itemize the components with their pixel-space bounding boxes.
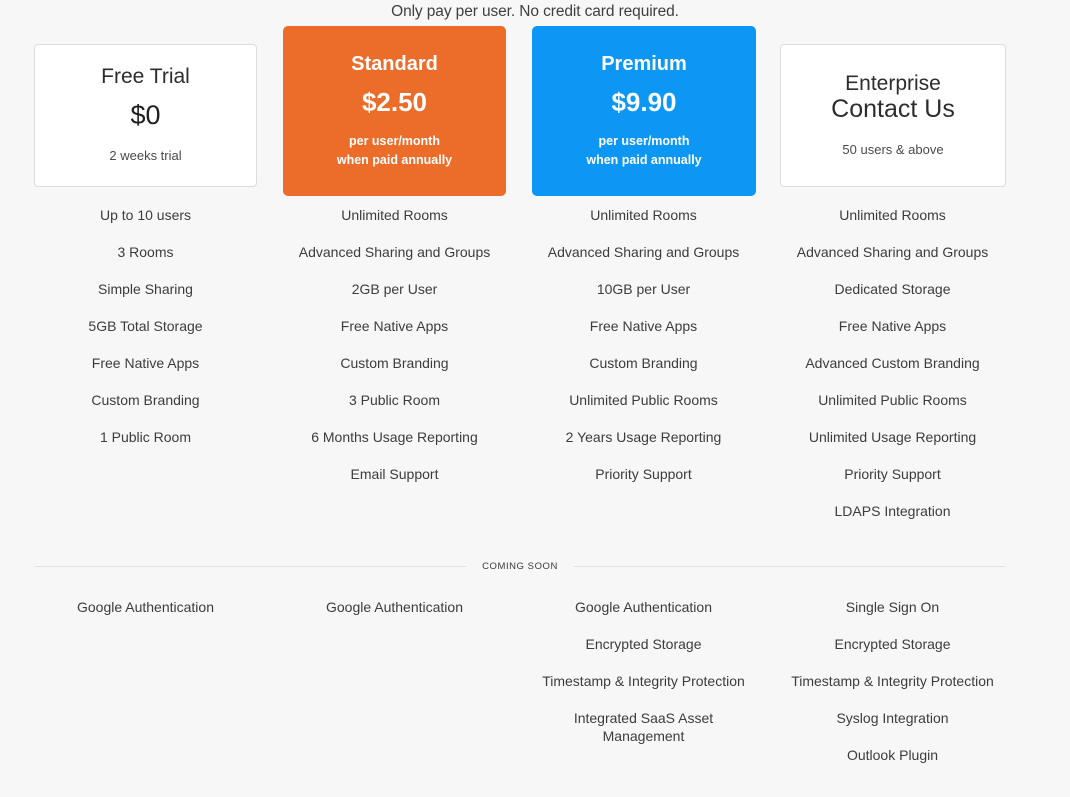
feature-item: Timestamp & Integrity Protection: [528, 672, 759, 690]
feature-item: Encrypted Storage: [572, 635, 716, 653]
feature-item: Free Native Apps: [825, 317, 960, 335]
feature-item: Free Native Apps: [576, 317, 711, 335]
divider-rule-right: [574, 566, 1005, 567]
plan-note: per user/month when paid annually: [337, 132, 452, 168]
feature-item: Outlook Plugin: [833, 746, 952, 764]
plan-name: Standard: [351, 53, 438, 75]
plan-note-line-2: when paid annually: [337, 151, 452, 169]
feature-item: Advanced Sharing and Groups: [534, 243, 753, 261]
feature-item: Unlimited Public Rooms: [555, 391, 732, 409]
feature-item: 2 Years Usage Reporting: [552, 428, 736, 446]
feature-column-free-trial: Up to 10 users3 RoomsSimple Sharing5GB T…: [21, 206, 270, 539]
feature-item: 5GB Total Storage: [74, 317, 216, 335]
feature-column-enterprise: Unlimited RoomsAdvanced Sharing and Grou…: [768, 206, 1017, 539]
coming-soon-divider: COMING SOON: [35, 561, 1005, 572]
plan-note: 50 users & above: [842, 141, 943, 160]
feature-column-standard: Unlimited RoomsAdvanced Sharing and Grou…: [270, 206, 519, 539]
plan-note-line-1: per user/month: [337, 132, 452, 150]
feature-item: 2GB per User: [338, 280, 452, 298]
plan-card-enterprise[interactable]: Enterprise Contact Us 50 users & above: [780, 44, 1006, 187]
feature-item: Advanced Custom Branding: [791, 354, 993, 372]
feature-item: Priority Support: [830, 465, 954, 483]
feature-item: Unlimited Public Rooms: [804, 391, 981, 409]
coming-soon-column-premium: Google AuthenticationEncrypted StorageTi…: [519, 598, 768, 783]
plan-card-standard[interactable]: Standard $2.50 per user/month when paid …: [283, 26, 506, 196]
feature-item: Unlimited Usage Reporting: [795, 428, 990, 446]
feature-item: Free Native Apps: [327, 317, 462, 335]
feature-item: Email Support: [337, 465, 453, 483]
plan-contact-us-label: Contact Us: [831, 95, 955, 123]
feature-item: Unlimited Rooms: [327, 206, 462, 224]
pricing-page: Only pay per user. No credit card requir…: [0, 0, 1070, 797]
feature-item: Timestamp & Integrity Protection: [777, 672, 1008, 690]
plan-card-free-trial[interactable]: Free Trial $0 2 weeks trial: [34, 44, 257, 187]
coming-soon-label: COMING SOON: [482, 561, 558, 572]
feature-item: Unlimited Rooms: [576, 206, 711, 224]
plan-note-line-2: when paid annually: [586, 151, 701, 169]
feature-item: 6 Months Usage Reporting: [297, 428, 492, 446]
plan-card-row: Free Trial $0 2 weeks trial Standard $2.…: [0, 0, 1070, 200]
coming-soon-feature-columns: Google Authentication Google Authenticat…: [0, 598, 1070, 783]
plan-price: $0: [130, 102, 160, 129]
feature-item: Advanced Sharing and Groups: [783, 243, 1002, 261]
feature-item: 3 Rooms: [103, 243, 187, 261]
feature-item: Simple Sharing: [84, 280, 207, 298]
feature-item: Up to 10 users: [86, 206, 205, 224]
feature-item: Single Sign On: [832, 598, 953, 616]
feature-item: Integrated SaaS Asset Management: [519, 709, 768, 746]
feature-column-premium: Unlimited RoomsAdvanced Sharing and Grou…: [519, 206, 768, 539]
plan-name: Free Trial: [101, 65, 190, 88]
feature-item: LDAPS Integration: [821, 502, 965, 520]
feature-item: Advanced Sharing and Groups: [285, 243, 504, 261]
feature-item: Google Authentication: [312, 598, 477, 616]
plan-card-premium[interactable]: Premium $9.90 per user/month when paid a…: [532, 26, 756, 196]
plan-note: per user/month when paid annually: [586, 132, 701, 168]
feature-item: Custom Branding: [77, 391, 213, 409]
feature-item: Custom Branding: [326, 354, 462, 372]
feature-item: Custom Branding: [575, 354, 711, 372]
feature-item: Dedicated Storage: [821, 280, 965, 298]
plan-name: Enterprise: [845, 72, 941, 95]
divider-rule-left: [35, 566, 466, 567]
feature-columns: Up to 10 users3 RoomsSimple Sharing5GB T…: [0, 206, 1070, 539]
plan-price: $9.90: [611, 89, 676, 115]
feature-item: 3 Public Room: [335, 391, 454, 409]
plan-note-line-1: 2 weeks trial: [109, 147, 181, 166]
plan-note-line-1: per user/month: [586, 132, 701, 150]
feature-item: Unlimited Rooms: [825, 206, 960, 224]
feature-item: Google Authentication: [561, 598, 726, 616]
coming-soon-column-standard: Google Authentication: [270, 598, 519, 783]
feature-item: Encrypted Storage: [821, 635, 965, 653]
plan-note-line-1: 50 users & above: [842, 141, 943, 160]
coming-soon-column-free-trial: Google Authentication: [21, 598, 270, 783]
feature-item: Free Native Apps: [78, 354, 213, 372]
feature-item: Syslog Integration: [822, 709, 962, 727]
feature-item: Google Authentication: [63, 598, 228, 616]
feature-item: Priority Support: [581, 465, 705, 483]
plan-price: $2.50: [362, 89, 427, 115]
plan-name: Premium: [601, 53, 687, 75]
feature-item: 10GB per User: [583, 280, 704, 298]
coming-soon-column-enterprise: Single Sign OnEncrypted StorageTimestamp…: [768, 598, 1017, 783]
feature-item: 1 Public Room: [86, 428, 205, 446]
plan-note: 2 weeks trial: [109, 147, 181, 166]
